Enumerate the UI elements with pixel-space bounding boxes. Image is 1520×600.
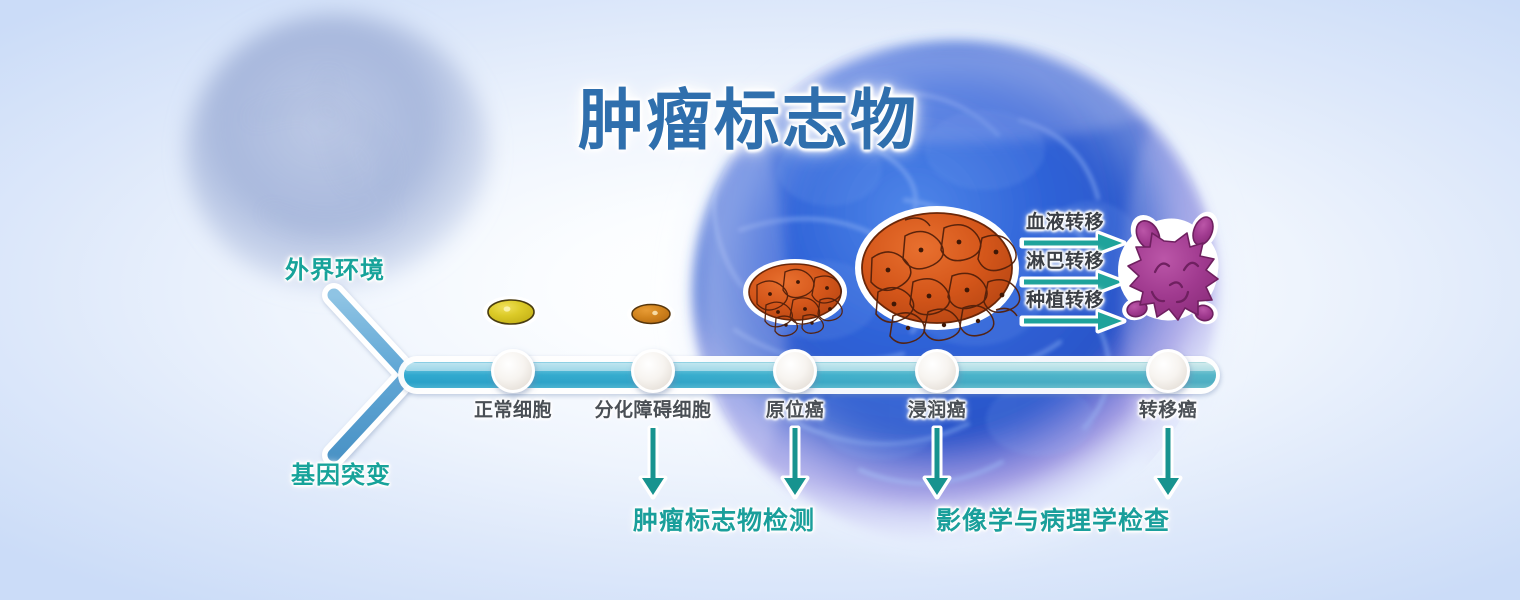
metastatic-cell-icon xyxy=(1118,208,1223,328)
tumor-cluster-large-icon xyxy=(855,206,1020,343)
detection-arrow xyxy=(641,428,665,497)
metastasis-label-lymphatic: 淋巴转移 xyxy=(1026,252,1104,271)
dysplastic-cell-icon xyxy=(627,301,675,327)
timeline-node[interactable] xyxy=(631,349,675,393)
branch-label-external-environment: 外界环境 xyxy=(285,258,385,282)
detection-label-imaging-pathology-exam: 影像学与病理学检查 xyxy=(936,508,1170,533)
page-title: 肿瘤标志物 xyxy=(578,88,918,154)
stage-label-dysplastic-cell: 分化障碍细胞 xyxy=(594,401,711,420)
timeline-node[interactable] xyxy=(491,349,535,393)
infographic-canvas: 肿瘤标志物 外界环境 基因突变 正常细胞 分化障碍细胞 原位癌 浸润癌 转移癌 … xyxy=(0,0,1520,600)
normal-cell-icon xyxy=(483,296,539,328)
metastasis-label-hematogenous: 血液转移 xyxy=(1026,213,1104,232)
timeline-node[interactable] xyxy=(1146,349,1190,393)
tumor-cluster-small-icon xyxy=(743,259,847,336)
stage-label-invasive-carcinoma: 浸润癌 xyxy=(908,401,967,420)
timeline-node[interactable] xyxy=(773,349,817,393)
stage-label-carcinoma-in-situ: 原位癌 xyxy=(766,401,825,420)
detection-label-tumor-marker-test: 肿瘤标志物检测 xyxy=(633,508,815,533)
metastasis-label-implantation: 种植转移 xyxy=(1026,291,1104,310)
metastasis-arrow xyxy=(1022,311,1124,331)
detection-arrow xyxy=(925,428,949,497)
metastasis-arrows xyxy=(1022,233,1124,331)
detection-arrow xyxy=(783,428,807,497)
detection-arrow xyxy=(1156,428,1180,497)
detection-arrows xyxy=(641,428,1180,497)
stage-label-metastatic-carcinoma: 转移癌 xyxy=(1139,401,1198,420)
branch-label-gene-mutation: 基因突变 xyxy=(291,463,391,487)
timeline-node[interactable] xyxy=(915,349,959,393)
stage-label-normal-cell: 正常细胞 xyxy=(474,401,552,420)
